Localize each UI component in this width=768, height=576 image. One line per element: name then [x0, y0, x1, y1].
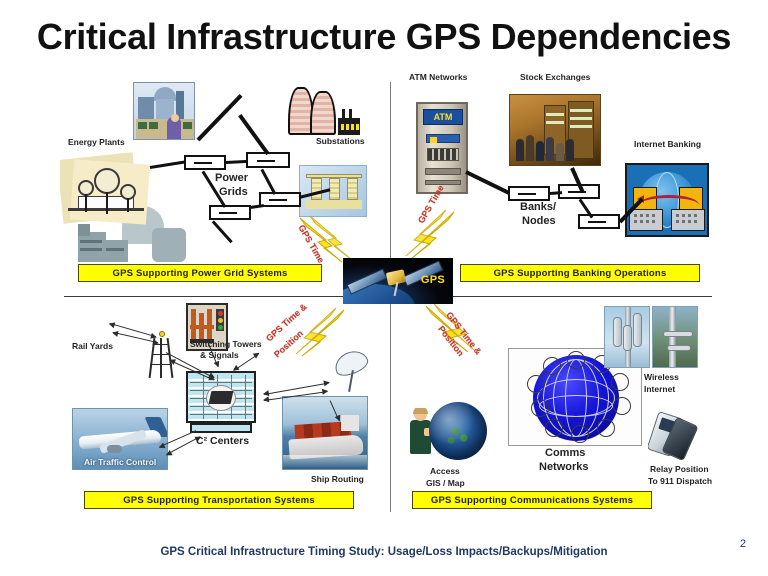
banner-power-grid: GPS Supporting Power Grid Systems [78, 264, 322, 282]
bank-node-box [508, 186, 550, 201]
footer-text: GPS Critical Infrastructure Timing Study… [0, 546, 768, 558]
label-relay-position-line2: To 911 Dispatch [648, 476, 712, 487]
power-grid-node-box [209, 205, 251, 220]
label-banks-nodes-line1: Banks/ [520, 202, 556, 213]
label-power-grids-line1: Power [215, 173, 248, 184]
page-number: 2 [740, 538, 746, 550]
bank-node-box [578, 214, 620, 229]
cargo-ship-image [282, 396, 368, 470]
stock-exchange-image [509, 94, 601, 166]
power-plant-control-room-image [133, 82, 195, 140]
label-ship-routing: Ship Routing [311, 474, 364, 485]
cooling-towers-image [288, 83, 360, 135]
substation-transformer-image [299, 165, 367, 217]
label-relay-position-line1: Relay Position [650, 464, 709, 475]
earth-globe-image [429, 402, 487, 460]
banner-transportation: GPS Supporting Transportation Systems [84, 491, 354, 509]
bank-link [465, 170, 510, 195]
label-comms-networks-line1: Comms [545, 448, 585, 459]
page-title: Critical Infrastructure GPS Dependencies [0, 16, 768, 58]
label-switching-towers-line2: & Signals [200, 350, 239, 361]
label-substations: Substations [316, 136, 365, 147]
power-grid-node-box [259, 192, 301, 207]
label-access-gis-line2: GIS / Map [426, 478, 465, 489]
atm-screen-label: ATM [423, 109, 463, 125]
cell-phone-image [648, 408, 700, 466]
grid-link [226, 160, 248, 164]
label-atm-networks: ATM Networks [409, 72, 467, 83]
grid-link [150, 160, 186, 168]
atm-machine-image: ATM [416, 102, 468, 194]
label-energy-plants: Energy Plants [68, 137, 125, 148]
c2-center-building-image [186, 371, 256, 433]
grid-link [261, 169, 276, 195]
label-rail-yards: Rail Yards [72, 341, 113, 352]
grid-link [250, 204, 264, 209]
banner-communications: GPS Supporting Communications Systems [412, 491, 652, 509]
label-air-traffic-control: Air Traffic Control [84, 457, 156, 468]
label-c2-centers: C² Centers [196, 436, 249, 447]
grid-link [197, 94, 243, 141]
label-internet-banking: Internet Banking [634, 139, 701, 150]
label-stock-exchanges: Stock Exchanges [520, 72, 590, 83]
label-power-grids-line2: Grids [219, 187, 248, 198]
grid-link [238, 114, 269, 155]
wireless-antenna-image-2 [652, 306, 698, 368]
slide-canvas: Critical Infrastructure GPS Dependencies [0, 0, 768, 576]
label-access-gis-line1: Access [430, 466, 460, 477]
label-banks-nodes-line2: Nodes [522, 216, 556, 227]
power-grid-node-box [184, 155, 226, 170]
label-comms-networks-line2: Networks [539, 462, 589, 473]
grid-link [212, 220, 233, 243]
gps-satellite-image: GPS [343, 258, 453, 304]
gps-center-label: GPS [421, 274, 445, 286]
label-wireless-internet-line1: Wireless [644, 372, 679, 383]
energy-plants-image [60, 148, 152, 232]
power-grid-node-box [246, 152, 290, 168]
label-switching-towers-line1: Switching Towers [190, 339, 262, 350]
banner-banking: GPS Supporting Banking Operations [460, 264, 700, 282]
wireless-antenna-image-1 [604, 306, 650, 368]
label-wireless-internet-line2: Internet [644, 384, 675, 395]
